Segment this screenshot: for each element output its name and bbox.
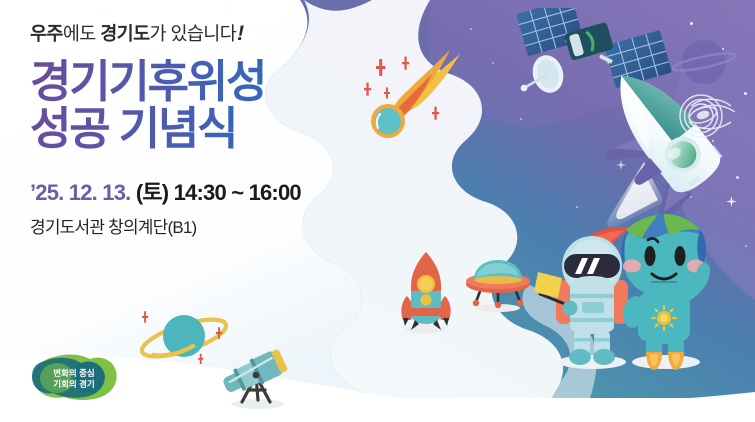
circular-mission-seal	[673, 84, 737, 146]
poster-text-block: 우주에도 경기도가 있습니다! 경기기후위성 성공 기념식 ’25. 12. 1…	[30, 22, 400, 238]
tagline-plain-1: 에도	[63, 23, 100, 44]
tagline: 우주에도 경기도가 있습니다!	[30, 22, 400, 45]
earth-character-mascot	[604, 212, 726, 372]
gyeonggi-province-logo: 변화의 중심 기회의 경기	[28, 352, 120, 404]
small-rocket-illustration	[395, 250, 457, 336]
event-time: 14:30 ~ 16:00	[174, 180, 301, 205]
event-venue: 경기도서관 창의계단(B1)	[30, 213, 400, 238]
page-title: 경기기후위성 성공 기념식	[30, 59, 400, 153]
event-datetime: ’25. 12. 13. (토) 14:30 ~ 16:00	[30, 175, 400, 207]
event-weekday: (토)	[136, 180, 169, 205]
title-line-2: 성공 기념식	[30, 106, 400, 153]
event-date: ’25. 12. 13.	[30, 180, 131, 205]
title-line-1: 경기기후위성	[30, 56, 265, 107]
tagline-plain-2: 가 있습니다	[150, 23, 237, 44]
tagline-exclamation: !	[237, 22, 243, 45]
tagline-bold-2: 경기도	[100, 23, 149, 44]
ufo-illustration	[462, 258, 534, 314]
telescope-illustration	[212, 340, 300, 410]
event-poster: 우주에도 경기도가 있습니다! 경기기후위성 성공 기념식 ’25. 12. 1…	[0, 0, 755, 422]
logo-slogan-line-1: 변화의 중심	[53, 368, 94, 378]
tagline-bold-1: 우주	[30, 23, 63, 44]
logo-slogan-line-2: 기회의 경기	[53, 379, 94, 389]
